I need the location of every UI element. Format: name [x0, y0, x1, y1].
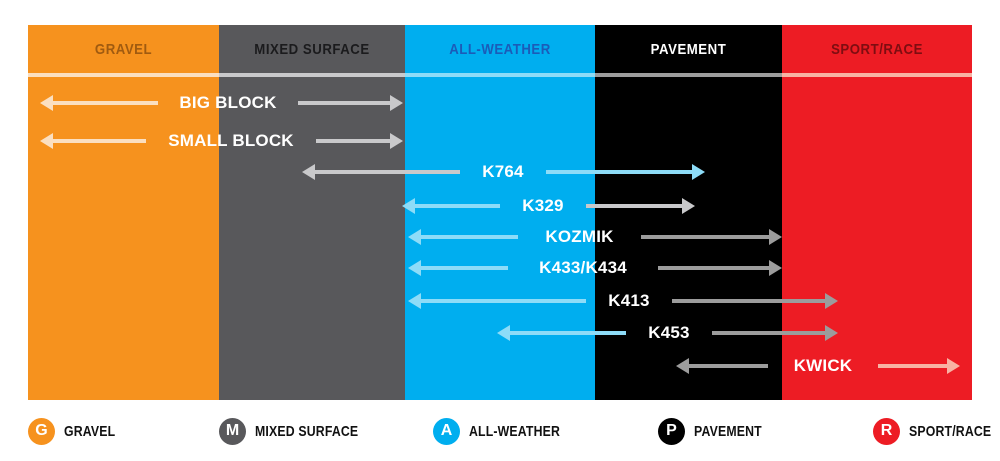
arrow-shaft: [658, 266, 769, 270]
header-rule-segment: [782, 73, 972, 77]
arrow-shaft: [315, 170, 460, 174]
header-rule-segment: [28, 73, 219, 77]
arrow-head-left-icon: [408, 229, 421, 245]
arrow-head-right-icon: [682, 198, 695, 214]
arrow-shaft: [298, 101, 390, 105]
arrow-head-right-icon: [390, 133, 403, 149]
arrow-head-right-icon: [825, 325, 838, 341]
tire-row-k433-k434[interactable]: K433/K434: [28, 255, 972, 281]
arrow-shaft: [421, 235, 518, 239]
arrow-head-left-icon: [408, 293, 421, 309]
arrow-head-left-icon: [402, 198, 415, 214]
legend-item-pavement[interactable]: PPAVEMENT: [658, 408, 777, 454]
arrow-shaft: [53, 101, 158, 105]
tire-row-k453[interactable]: K453: [28, 320, 972, 346]
legend-badge-mixed-icon: M: [219, 418, 246, 445]
legend-label-gravel: GRAVEL: [64, 423, 115, 440]
legend-label-sportrace: SPORT/RACE: [909, 423, 991, 440]
tire-surface-chart: GRAVELMIXED SURFACEALL-WEATHERPAVEMENTSP…: [0, 0, 1000, 461]
legend-badge-allweather-icon: A: [433, 418, 460, 445]
tire-row-k413[interactable]: K413: [28, 288, 972, 314]
arrow-head-right-icon: [825, 293, 838, 309]
legend: GGRAVELMMIXED SURFACEAALL-WEATHERPPAVEME…: [28, 408, 972, 454]
tire-label-big-block[interactable]: BIG BLOCK: [158, 90, 298, 116]
legend-item-allweather[interactable]: AALL-WEATHER: [433, 408, 580, 454]
arrow-shaft: [689, 364, 768, 368]
legend-item-sportrace[interactable]: RSPORT/RACE: [873, 408, 1000, 454]
column-header-allweather[interactable]: ALL-WEATHER: [416, 25, 583, 73]
legend-item-gravel[interactable]: GGRAVEL: [28, 408, 127, 454]
legend-label-mixed: MIXED SURFACE: [255, 423, 358, 440]
tire-row-kwick[interactable]: KWICK: [28, 353, 972, 379]
arrow-head-left-icon: [302, 164, 315, 180]
arrow-shaft: [546, 170, 692, 174]
column-header-pavement[interactable]: PAVEMENT: [606, 25, 771, 73]
tire-label-k413[interactable]: K413: [586, 288, 672, 314]
arrow-head-left-icon: [40, 133, 53, 149]
tire-label-k329[interactable]: K329: [500, 193, 586, 219]
tire-row-kozmik[interactable]: KOZMIK: [28, 224, 972, 250]
legend-badge-pavement-icon: P: [658, 418, 685, 445]
column-header-gravel[interactable]: GRAVEL: [39, 25, 207, 73]
arrow-shaft: [316, 139, 390, 143]
arrow-head-right-icon: [769, 260, 782, 276]
arrow-head-left-icon: [497, 325, 510, 341]
arrow-head-right-icon: [692, 164, 705, 180]
arrow-shaft: [421, 299, 586, 303]
tire-row-big-block[interactable]: BIG BLOCK: [28, 90, 972, 116]
arrow-head-left-icon: [676, 358, 689, 374]
tire-row-k329[interactable]: K329: [28, 193, 972, 219]
arrow-shaft: [672, 299, 825, 303]
tire-row-k764[interactable]: K764: [28, 159, 972, 185]
arrow-shaft: [878, 364, 947, 368]
arrow-shaft: [641, 235, 769, 239]
tire-label-k433-k434[interactable]: K433/K434: [508, 255, 658, 281]
arrow-shaft: [510, 331, 626, 335]
legend-label-pavement: PAVEMENT: [694, 423, 762, 440]
header-rule-segment: [405, 73, 595, 77]
legend-badge-sportrace-icon: R: [873, 418, 900, 445]
arrow-shaft: [586, 204, 682, 208]
arrow-head-left-icon: [408, 260, 421, 276]
arrow-shaft: [712, 331, 825, 335]
arrow-shaft: [421, 266, 508, 270]
legend-item-mixed[interactable]: MMIXED SURFACE: [219, 408, 381, 454]
tire-label-kozmik[interactable]: KOZMIK: [518, 224, 641, 250]
legend-label-allweather: ALL-WEATHER: [469, 423, 560, 440]
tire-label-small-block[interactable]: SMALL BLOCK: [146, 128, 316, 154]
arrow-head-right-icon: [769, 229, 782, 245]
arrow-shaft: [415, 204, 500, 208]
arrow-head-right-icon: [947, 358, 960, 374]
header-rule-segment: [595, 73, 782, 77]
tire-label-k764[interactable]: K764: [460, 159, 546, 185]
legend-badge-gravel-icon: G: [28, 418, 55, 445]
tire-label-k453[interactable]: K453: [626, 320, 712, 346]
arrow-head-right-icon: [390, 95, 403, 111]
tire-label-kwick[interactable]: KWICK: [768, 353, 878, 379]
arrow-head-left-icon: [40, 95, 53, 111]
tire-row-small-block[interactable]: SMALL BLOCK: [28, 128, 972, 154]
column-header-mixed[interactable]: MIXED SURFACE: [230, 25, 394, 73]
column-header-sportrace[interactable]: SPORT/RACE: [793, 25, 960, 73]
header-rule: [28, 73, 972, 77]
chart-body: GRAVELMIXED SURFACEALL-WEATHERPAVEMENTSP…: [28, 25, 972, 400]
arrow-shaft: [53, 139, 146, 143]
header-rule-segment: [219, 73, 405, 77]
